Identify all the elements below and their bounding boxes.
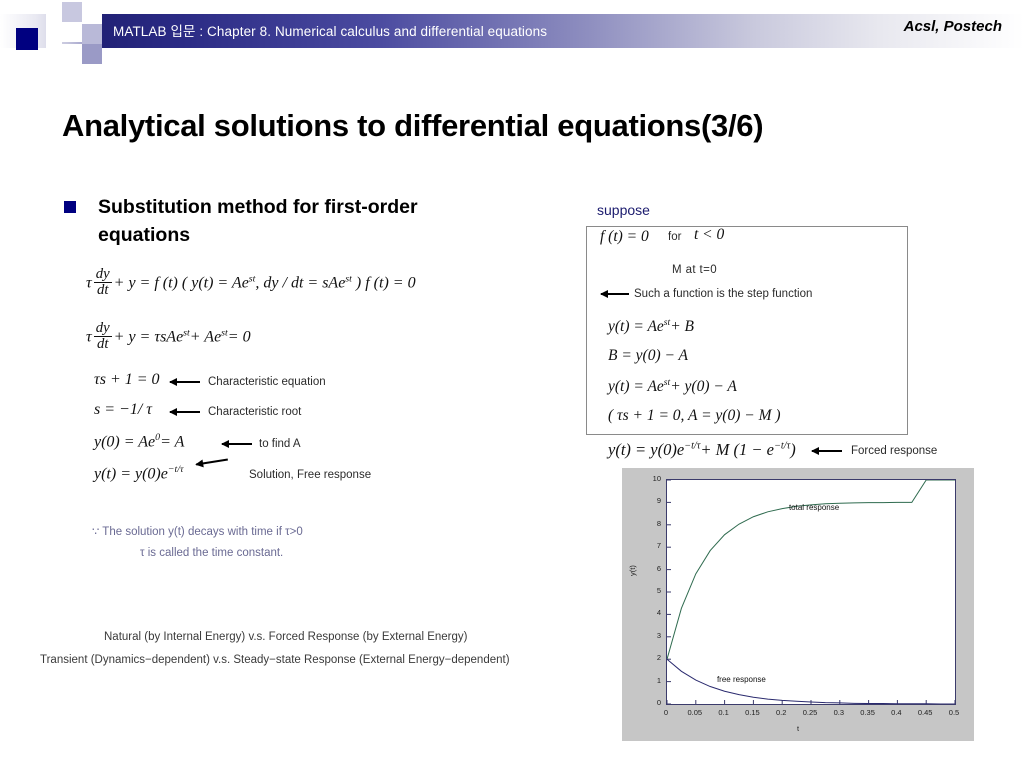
box-eq-2-part-a: y(t) = Ae bbox=[608, 318, 664, 335]
box-equation-t-less-zero: t < 0 bbox=[694, 226, 724, 244]
chart-x-tick-label: 0.15 bbox=[739, 708, 765, 717]
box-annotation-m-at-t0: M at t=0 bbox=[672, 264, 717, 276]
box-annotation-for: for bbox=[668, 231, 681, 243]
decor-square-lavender-a bbox=[62, 2, 82, 22]
chart-y-tick-label: 3 bbox=[645, 631, 661, 640]
chart-x-tick-label: 0.3 bbox=[826, 708, 852, 717]
equation-2-part-c: = 0 bbox=[228, 329, 251, 346]
equation-6-part-a: y(t) = y(0)e bbox=[94, 465, 168, 482]
box-annotation-step-function: Such a function is the step function bbox=[634, 288, 812, 300]
annotation-to-find-a: to find A bbox=[259, 438, 301, 450]
box-eq-4-part-b: + y(0) − A bbox=[670, 378, 737, 395]
note-decay: ∵ The solution y(t) decays with time if … bbox=[92, 524, 303, 538]
decor-square-white-b bbox=[62, 22, 82, 42]
chart-y-tick-label: 1 bbox=[645, 676, 661, 685]
equation-1-part-a: + y = f (t) ( y(t) = Ae bbox=[114, 275, 249, 292]
header-band: MATLAB 입문 : Chapter 8. Numerical calculu… bbox=[0, 14, 1024, 48]
chart-y-tick-label: 4 bbox=[645, 608, 661, 617]
chart-y-tick-label: 0 bbox=[645, 698, 661, 707]
box-equation-y-ae-b: y(t) = Aest+ B bbox=[608, 317, 694, 336]
curve-label-total-response: total response bbox=[789, 503, 839, 512]
chart-y-tick-label: 5 bbox=[645, 586, 661, 595]
equation-1-tau: τ bbox=[86, 275, 92, 292]
annotation-characteristic-root: Characteristic root bbox=[208, 406, 301, 418]
equation-free-response: y(t) = y(0)e−t/τ bbox=[94, 464, 184, 483]
chart-x-tick-label: 0.4 bbox=[883, 708, 909, 717]
chart-x-tick-label: 0.25 bbox=[797, 708, 823, 717]
equation-characteristic-root: s = −1/ τ bbox=[94, 401, 152, 419]
equation-5-part-b: = A bbox=[160, 433, 184, 450]
response-chart: total response free response y(t) t 0123… bbox=[622, 468, 974, 741]
header-brand: Acsl, Postech bbox=[904, 18, 1002, 35]
curve-label-free-response: free response bbox=[717, 675, 766, 684]
equation-2-sup-a: st bbox=[183, 327, 190, 338]
equation-characteristic: τs + 1 = 0 bbox=[94, 371, 160, 389]
chart-plot-area: total response free response bbox=[666, 479, 956, 705]
box-equation-b: B = y(0) − A bbox=[608, 347, 688, 365]
footnote-transient-steady: Transient (Dynamics−dependent) v.s. Stea… bbox=[40, 654, 510, 666]
chart-y-axis-label: y(t) bbox=[628, 565, 637, 576]
box-equation-y-full: y(t) = Aest+ y(0) − A bbox=[608, 377, 737, 396]
arrow-icon-find-a bbox=[222, 443, 252, 445]
equation-1-numerator: dy bbox=[94, 267, 112, 282]
equation-1-fraction: dydt bbox=[94, 267, 112, 299]
equation-6-sup: −t/τ bbox=[168, 464, 184, 475]
equation-2-denominator: dt bbox=[94, 336, 112, 352]
equation-1-denominator: dt bbox=[94, 282, 112, 298]
equation-1-sup-b: st bbox=[345, 273, 352, 284]
decor-square-periwinkle-f bbox=[82, 44, 102, 64]
annotation-forced-response: Forced response bbox=[851, 445, 937, 457]
box-equation-paren: ( τs + 1 = 0, A = y(0) − M ) bbox=[608, 407, 781, 425]
equation-1-part-b: , dy / dt = sAe bbox=[255, 275, 345, 292]
annotation-characteristic-equation: Characteristic equation bbox=[208, 376, 326, 388]
equation-5-part-a: y(0) = Ae bbox=[94, 433, 155, 450]
chart-x-tick-label: 0.5 bbox=[941, 708, 967, 717]
decor-square-lavender-d bbox=[82, 24, 102, 44]
chart-y-tick-label: 6 bbox=[645, 564, 661, 573]
suppose-label: suppose bbox=[597, 202, 650, 218]
note-time-constant: τ is called the time constant. bbox=[140, 547, 283, 559]
arrow-icon-characteristic-equation bbox=[170, 381, 200, 383]
forced-part-a: y(t) = y(0)e bbox=[608, 440, 684, 459]
forced-sup-1: −t/τ bbox=[684, 441, 700, 452]
page-title: Analytical solutions to differential equ… bbox=[62, 108, 962, 144]
arrow-icon-forced-response bbox=[812, 450, 842, 452]
chart-x-tick-label: 0.1 bbox=[711, 708, 737, 717]
forced-sup-2: −t/τ bbox=[774, 441, 790, 452]
bullet-heading: Substitution method for first-order equa… bbox=[98, 193, 498, 249]
decor-square-white-c bbox=[82, 2, 102, 24]
equation-2-fraction: dydt bbox=[94, 321, 112, 353]
chart-y-tick-label: 2 bbox=[645, 653, 661, 662]
forced-part-b: + M (1 − e bbox=[700, 440, 774, 459]
decor-square-white-e bbox=[62, 44, 82, 64]
decor-square-white-tall bbox=[46, 2, 62, 64]
equation-initial-condition: y(0) = Ae0= A bbox=[94, 432, 184, 451]
bullet-marker-icon bbox=[64, 201, 76, 213]
decor-square-navy bbox=[16, 28, 38, 50]
chart-x-tick-label: 0 bbox=[653, 708, 679, 717]
chart-x-tick-label: 0.2 bbox=[768, 708, 794, 717]
chart-y-tick-label: 7 bbox=[645, 541, 661, 550]
chart-x-tick-label: 0.05 bbox=[682, 708, 708, 717]
chart-y-tick-label: 10 bbox=[645, 474, 661, 483]
equation-1-part-c: ) f (t) = 0 bbox=[352, 275, 416, 292]
equation-2-part-b: + Ae bbox=[190, 329, 221, 346]
equation-1: τdydt+ y = f (t) ( y(t) = Aest, dy / dt … bbox=[86, 268, 416, 300]
equation-2-tau: τ bbox=[86, 329, 92, 346]
arrow-icon-step-function bbox=[601, 293, 629, 295]
forced-part-c: ) bbox=[790, 440, 796, 459]
annotation-solution-free-response: Solution, Free response bbox=[249, 469, 371, 481]
box-equation-f-zero: f (t) = 0 bbox=[600, 228, 649, 246]
footnote-natural-forced: Natural (by Internal Energy) v.s. Forced… bbox=[104, 631, 467, 643]
arrow-icon-characteristic-root bbox=[170, 411, 200, 413]
chart-x-axis-label: t bbox=[622, 724, 974, 733]
chart-y-tick-label: 8 bbox=[645, 519, 661, 528]
box-eq-2-part-b: + B bbox=[670, 318, 694, 335]
chart-x-tick-label: 0.45 bbox=[912, 708, 938, 717]
chart-x-tick-label: 0.35 bbox=[855, 708, 881, 717]
equation-2: τdydt+ y = τsAest+ Aest= 0 bbox=[86, 322, 251, 354]
arrow-icon-solution bbox=[196, 459, 228, 466]
equation-2-numerator: dy bbox=[94, 321, 112, 336]
equation-2-sup-b: st bbox=[221, 327, 228, 338]
chart-canvas bbox=[667, 480, 955, 704]
chart-y-tick-label: 9 bbox=[645, 496, 661, 505]
equation-2-part-a: + y = τsAe bbox=[114, 329, 184, 346]
equation-forced-response: y(t) = y(0)e−t/τ+ M (1 − e−t/τ) bbox=[608, 440, 796, 460]
box-eq-4-part-a: y(t) = Ae bbox=[608, 378, 664, 395]
header-title: MATLAB 입문 : Chapter 8. Numerical calculu… bbox=[113, 20, 547, 40]
